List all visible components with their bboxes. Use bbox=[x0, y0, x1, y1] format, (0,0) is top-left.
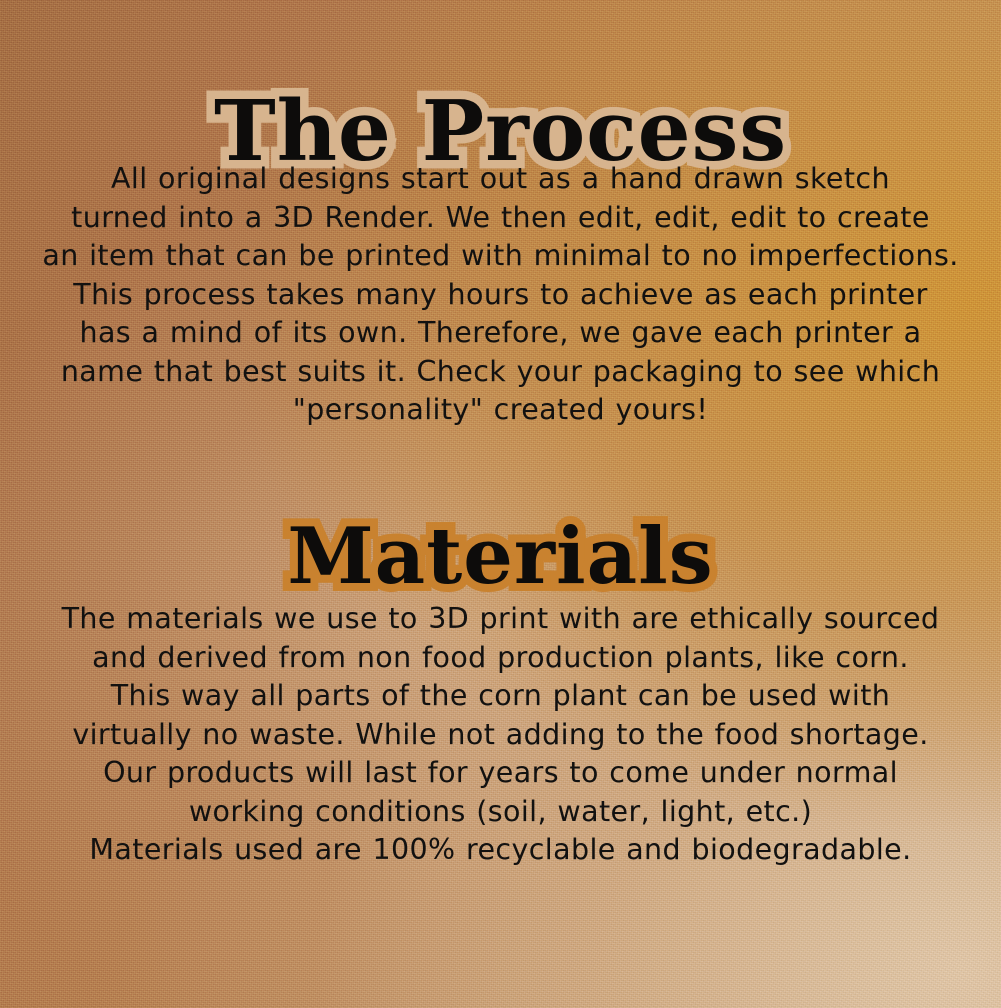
materials-line: and derived from non food production pla… bbox=[36, 639, 965, 678]
materials-line: Materials used are 100% recyclable and b… bbox=[36, 831, 965, 870]
page-title-materials: Materials bbox=[0, 518, 1001, 596]
process-line: an item that can be printed with minimal… bbox=[36, 237, 965, 276]
materials-line: Our products will last for years to come… bbox=[36, 754, 965, 793]
process-line: turned into a 3D Render. We then edit, e… bbox=[36, 199, 965, 238]
process-line: This process takes many hours to achieve… bbox=[36, 276, 965, 315]
poster-content: The Process All original designs start o… bbox=[0, 0, 1001, 1008]
poster-canvas: The Process All original designs start o… bbox=[0, 0, 1001, 1008]
process-line: "personality" created yours! bbox=[36, 391, 965, 430]
materials-line: virtually no waste. While not adding to … bbox=[36, 716, 965, 755]
process-line: All original designs start out as a hand… bbox=[36, 160, 965, 199]
materials-line: This way all parts of the corn plant can… bbox=[36, 677, 965, 716]
materials-line: The materials we use to 3D print with ar… bbox=[36, 600, 965, 639]
process-line: name that best suits it. Check your pack… bbox=[36, 353, 965, 392]
process-line: has a mind of its own. Therefore, we gav… bbox=[36, 314, 965, 353]
materials-body-text: The materials we use to 3D print with ar… bbox=[0, 600, 1001, 870]
materials-line: working conditions (soil, water, light, … bbox=[36, 793, 965, 832]
process-body-text: All original designs start out as a hand… bbox=[0, 160, 1001, 430]
